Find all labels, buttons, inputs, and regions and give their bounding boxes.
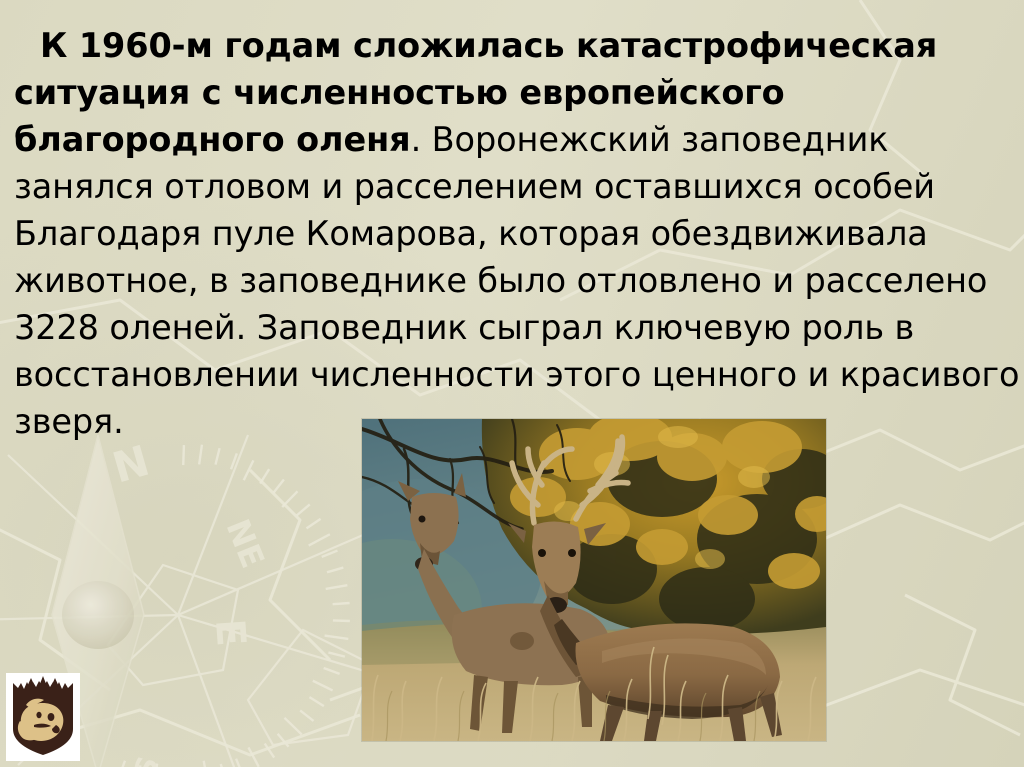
- deer-photo-artwork: [362, 419, 826, 741]
- body-rest-text: . Воронежский заповедник занялся отловом…: [14, 120, 1019, 441]
- deer-photograph: [362, 419, 826, 741]
- compass-label-se: SE: [122, 753, 164, 767]
- reserve-logo: [6, 673, 80, 761]
- compass-label-ne: NE: [219, 514, 272, 573]
- compass-label-s: S: [0, 730, 2, 767]
- reserve-logo-artwork: [6, 673, 80, 761]
- slide-canvas: N NW NE E SE S К 1960-м годам сложилась …: [0, 0, 1024, 767]
- slide-body-text: К 1960-м годам сложилась катастрофическа…: [14, 22, 1024, 445]
- compass-label-e: E: [206, 617, 254, 647]
